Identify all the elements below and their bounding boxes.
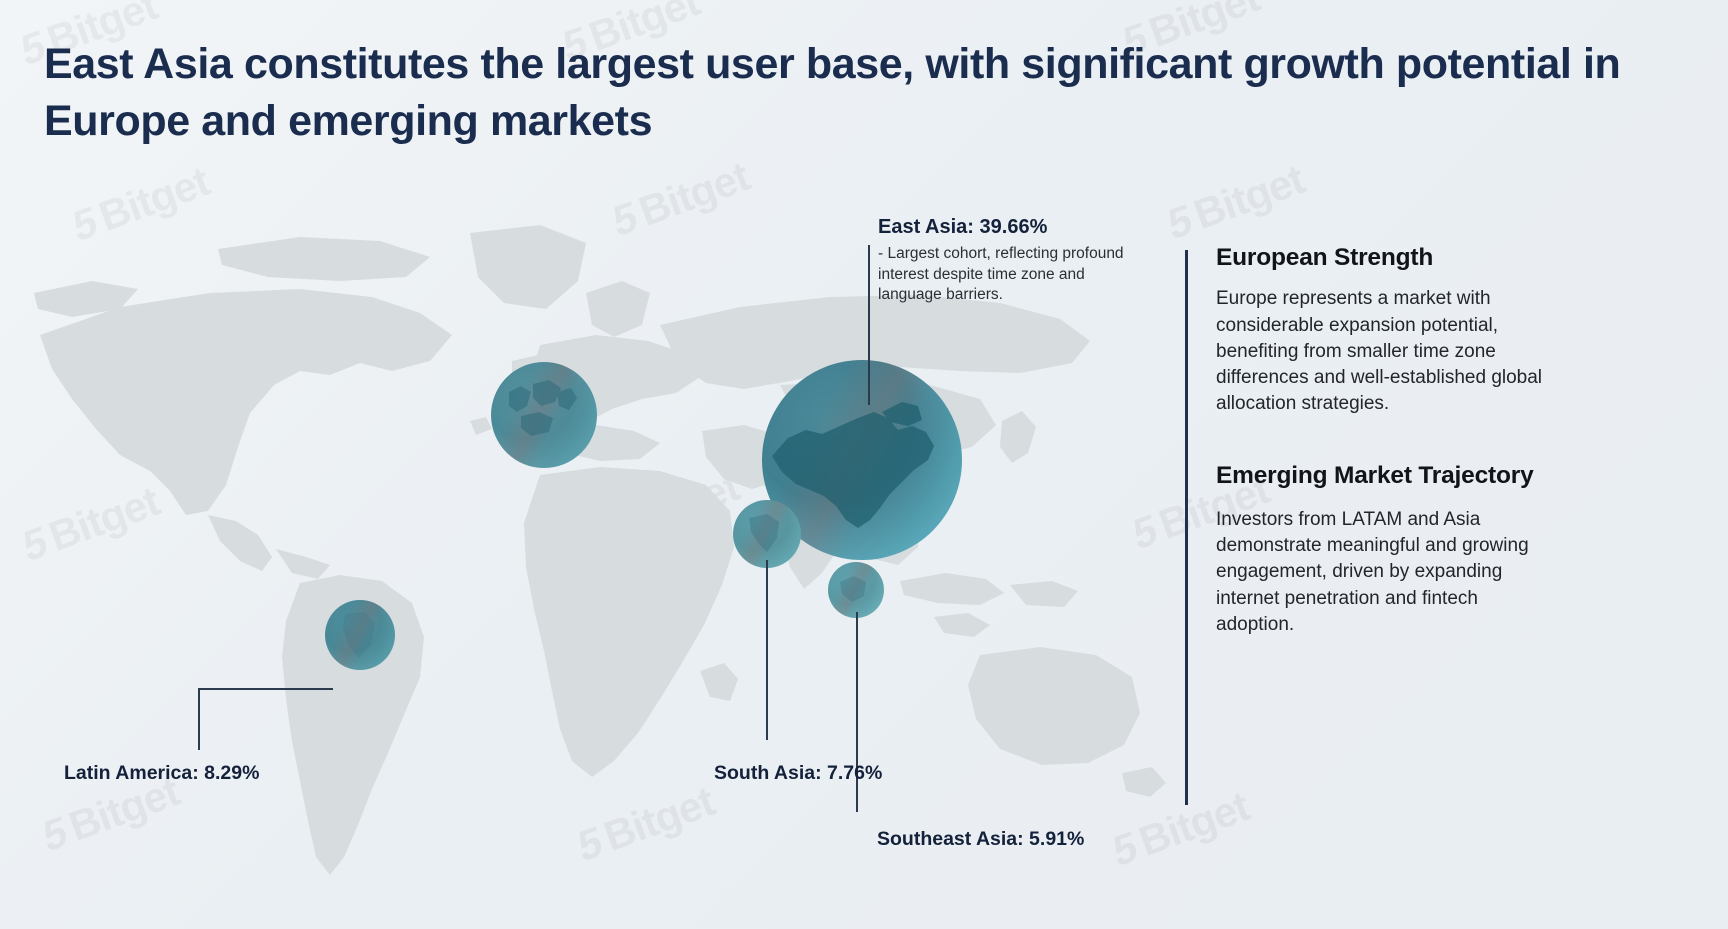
leader-line-latin-america-vertical: [198, 688, 200, 750]
insight-european-strength: European Strength Europe represents a ma…: [1216, 243, 1546, 417]
latam-silhouette: [325, 600, 395, 670]
europe-silhouette: [491, 362, 597, 468]
leader-line-latin-america-horizontal: [198, 688, 333, 690]
european-strength-body: Europe represents a market with consider…: [1216, 286, 1546, 417]
sea-silhouette: [828, 562, 884, 618]
page-title: East Asia constitutes the largest user b…: [44, 36, 1664, 150]
emerging-market-body: Investors from LATAM and Asia demonstrat…: [1216, 507, 1546, 638]
european-strength-heading: European Strength: [1216, 243, 1546, 272]
insight-emerging-market: Emerging Market Trajectory Investors fro…: [1216, 461, 1546, 637]
bubble-south-asia[interactable]: [733, 500, 801, 568]
east-asia-description: - Largest cohort, reflecting profound in…: [878, 244, 1146, 306]
label-latin-america: Latin America: 8.29%: [64, 762, 259, 785]
slide-root: 5Bitget 5Bitget 5Bitget 5Bitget 5Bitget …: [0, 0, 1728, 929]
panel-divider-rail: [1185, 250, 1188, 805]
leader-line-east-asia: [868, 245, 870, 405]
east-asia-title: East Asia: 39.66%: [878, 216, 1146, 239]
insights-panel: European Strength Europe represents a ma…: [1216, 243, 1546, 638]
callout-east-asia: East Asia: 39.66% - Largest cohort, refl…: [878, 216, 1146, 306]
bubble-latin-america[interactable]: [325, 600, 395, 670]
label-south-asia: South Asia: 7.76%: [714, 762, 882, 785]
bubble-europe[interactable]: [491, 362, 597, 468]
bubble-southeast-asia[interactable]: [828, 562, 884, 618]
emerging-market-heading: Emerging Market Trajectory: [1216, 461, 1546, 490]
leader-line-south-asia: [766, 560, 768, 740]
india-silhouette: [733, 500, 801, 568]
label-southeast-asia: Southeast Asia: 5.91%: [877, 828, 1084, 851]
